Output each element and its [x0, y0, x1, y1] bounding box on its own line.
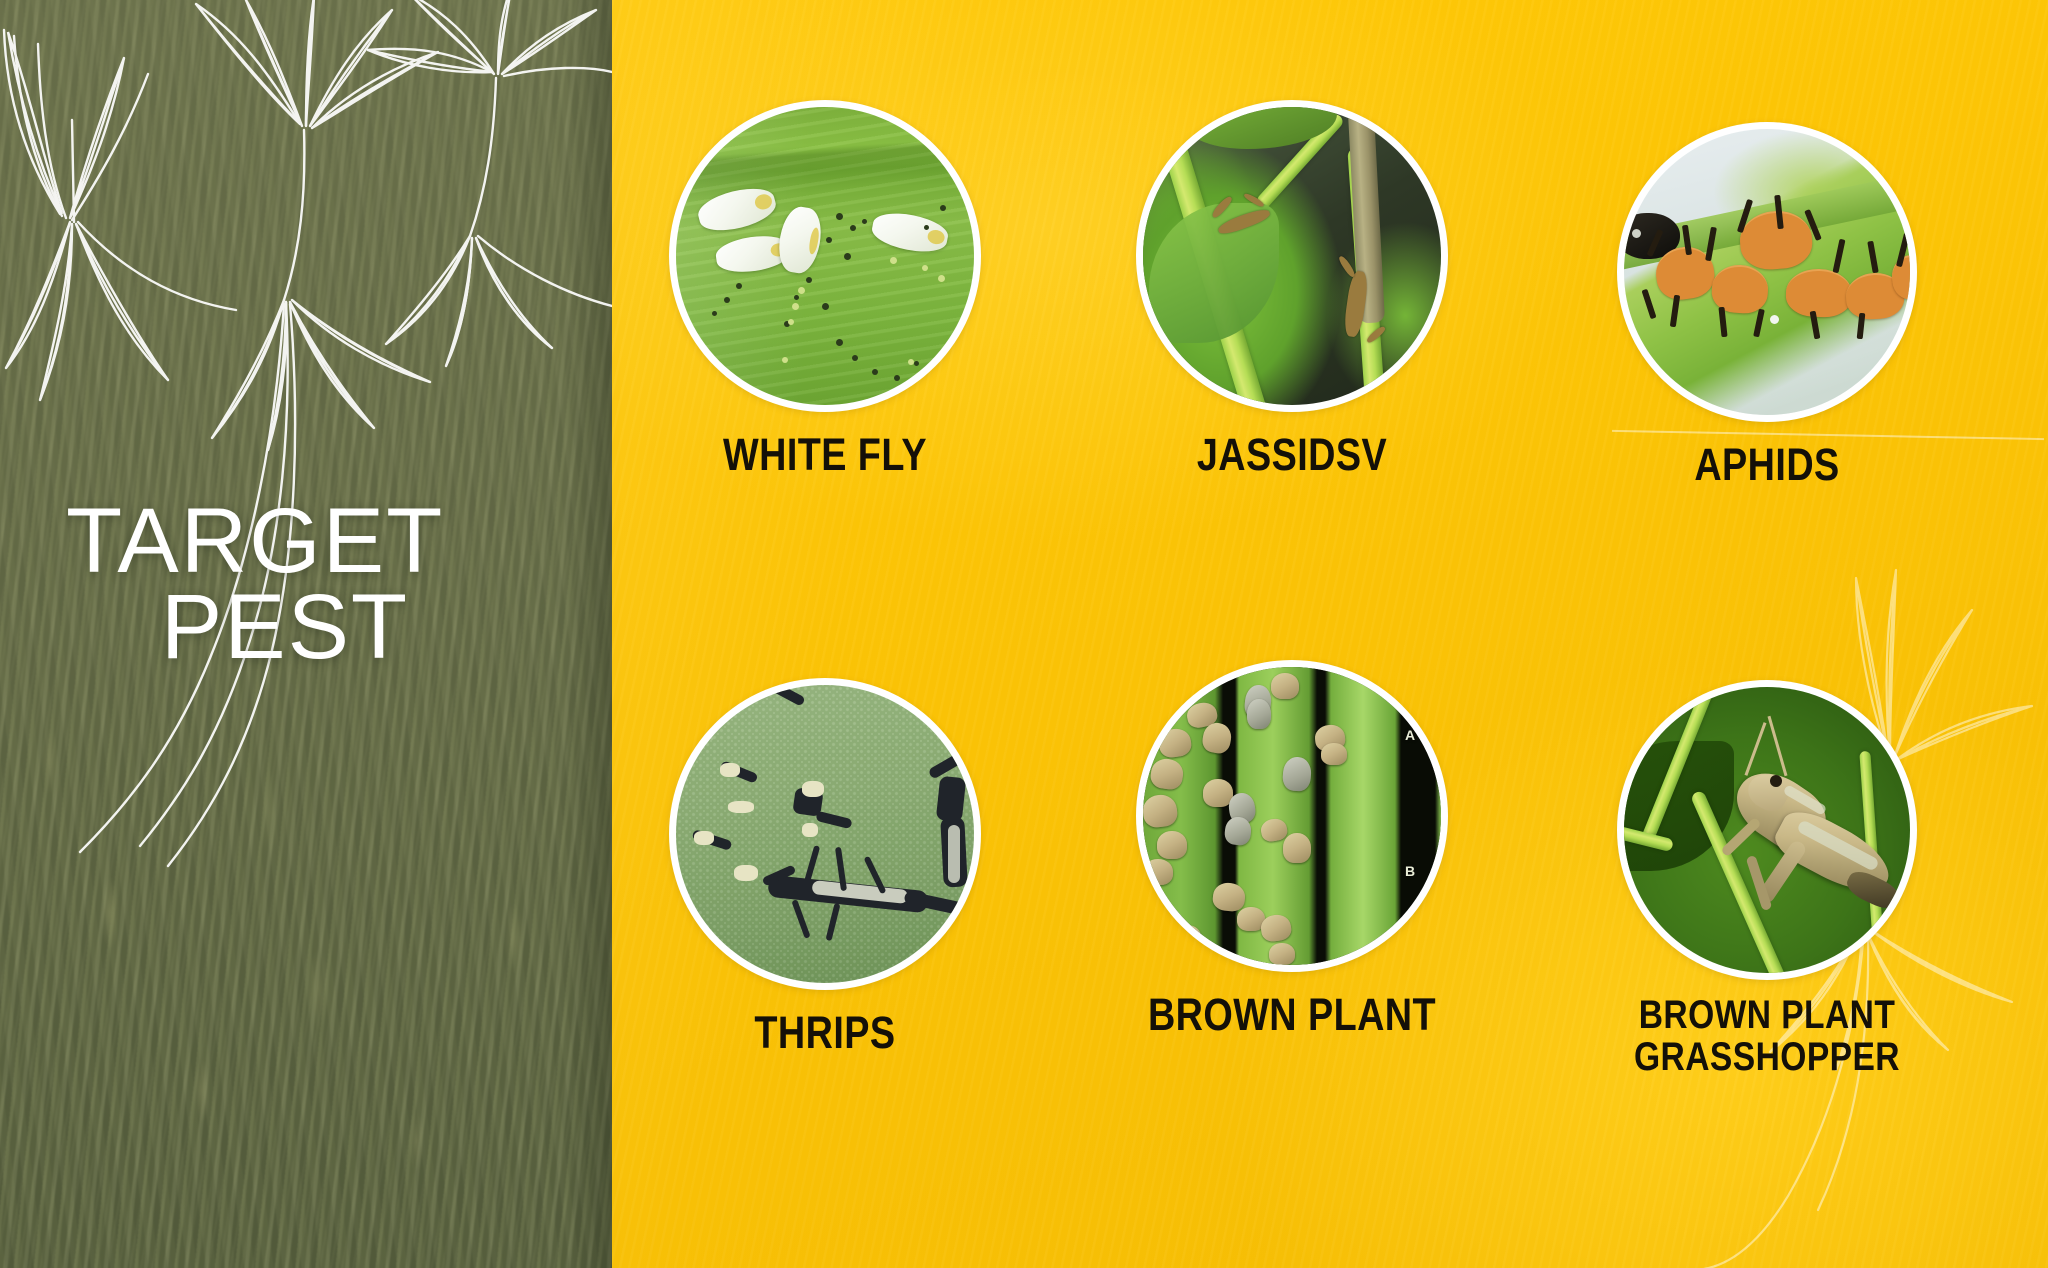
pest-photo-frame — [1136, 100, 1448, 412]
pest-photo-frame — [669, 678, 981, 990]
pest-card-brown-plant[interactable]: A B BROWN PLANT — [1097, 660, 1487, 1038]
pest-photo-brown-plant-grasshopper — [1624, 687, 1910, 973]
right-panel: WHITE FLY — [612, 0, 2048, 1268]
pest-photo-frame: A B — [1136, 660, 1448, 972]
target-pest-poster: TARGET PEST — [0, 0, 2048, 1268]
left-panel: TARGET PEST — [0, 0, 612, 1268]
pest-photo-brown-plant: A B — [1143, 667, 1441, 965]
pest-label-brown-plant-grasshopper: BROWN PLANT GRASSHOPPER — [1603, 994, 1931, 1079]
pest-label-thrips: THRIPS — [661, 1010, 989, 1056]
pest-card-thrips[interactable]: THRIPS — [630, 678, 1020, 1056]
pest-card-aphids[interactable]: APHIDS — [1572, 122, 1962, 488]
pest-label-jassidsv: JASSIDSV — [1128, 432, 1456, 478]
pest-card-jassidsv[interactable]: JASSIDSV — [1097, 100, 1487, 478]
pest-card-brown-plant-grasshopper[interactable]: BROWN PLANT GRASSHOPPER — [1572, 680, 1962, 1079]
pest-photo-jassidsv — [1143, 107, 1441, 405]
pest-grid: WHITE FLY — [612, 0, 2048, 1268]
title-line-pest: PEST — [66, 584, 586, 670]
pest-label-white-fly: WHITE FLY — [661, 432, 989, 478]
title-line-target: TARGET — [66, 498, 586, 584]
pest-photo-frame — [669, 100, 981, 412]
pest-photo-aphids — [1624, 129, 1910, 415]
pest-label-aphids: APHIDS — [1603, 442, 1931, 488]
pest-photo-thrips — [676, 685, 974, 983]
page-title: TARGET PEST — [66, 498, 586, 671]
pest-photo-frame — [1617, 122, 1917, 422]
pest-label-brown-plant: BROWN PLANT — [1128, 992, 1456, 1038]
pest-photo-white-fly — [676, 107, 974, 405]
photo-marker-b: B — [1405, 863, 1441, 965]
pest-card-white-fly[interactable]: WHITE FLY — [630, 100, 1020, 478]
pest-photo-frame — [1617, 680, 1917, 980]
